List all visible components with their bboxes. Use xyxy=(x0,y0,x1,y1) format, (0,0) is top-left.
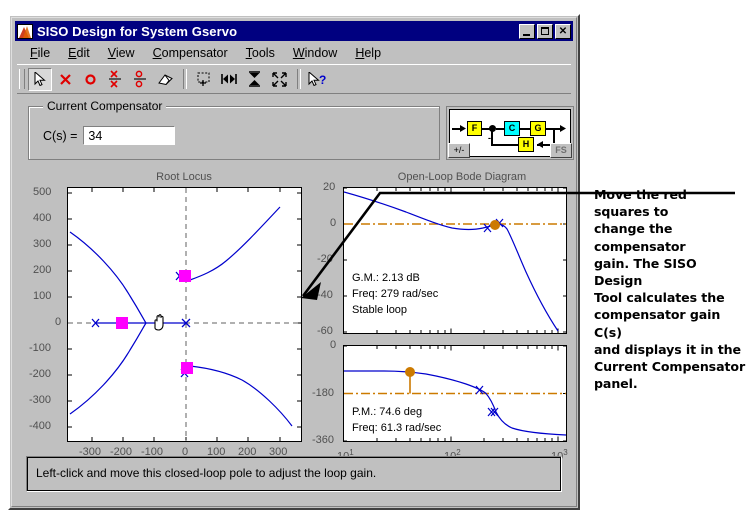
select-arrow-tool[interactable] xyxy=(28,68,52,91)
red-circle-icon xyxy=(84,73,97,86)
svg-text:?: ? xyxy=(319,73,326,87)
rl-ytick-m100: -100 xyxy=(29,342,51,354)
wire-fb-up xyxy=(491,130,493,145)
menu-label-compensator: ompensator xyxy=(162,46,228,60)
closed-loop-pole-marker-lower xyxy=(181,362,193,374)
window-title: SISO Design for System Gservo xyxy=(37,24,519,39)
fs-button[interactable]: FS xyxy=(550,143,572,158)
menu-item-view[interactable]: View xyxy=(99,44,144,62)
annotation-line-2: change the compensator xyxy=(594,220,746,254)
block-H-label: H xyxy=(523,139,530,149)
toolbar: ? xyxy=(17,64,571,94)
context-help-tool[interactable]: ? xyxy=(306,68,330,91)
callout-leader-line xyxy=(110,178,590,318)
menu-label-help: elp xyxy=(364,46,381,60)
close-button[interactable]: ✕ xyxy=(555,24,571,39)
menu-label-window: indow xyxy=(305,46,338,60)
menu-label-view: iew xyxy=(116,46,135,60)
block-G-label: G xyxy=(534,123,541,133)
delete-pole-zero-tool[interactable] xyxy=(153,68,177,91)
annotation-line-3: gain. The SISO Design xyxy=(594,255,746,289)
annotation-line-8: panel. xyxy=(594,375,746,392)
menu-bar: File Edit View Compensator Tools Window … xyxy=(15,43,573,63)
annotation-line-7: Current Compensator xyxy=(594,358,746,375)
annotation-line-4: Tool calculates the xyxy=(594,289,746,306)
phase-ytick-m180: -180 xyxy=(312,387,334,399)
block-C-label: C xyxy=(509,123,516,133)
feedback-structure-panel: F - C G xyxy=(446,106,574,160)
help-arrow-icon: ? xyxy=(308,72,328,87)
zoom-y-tool[interactable] xyxy=(242,68,266,91)
current-compensator-legend: Current Compensator xyxy=(43,99,166,113)
minimize-button[interactable] xyxy=(519,24,535,39)
red-x-icon xyxy=(59,73,72,86)
maximize-button[interactable] xyxy=(537,24,553,39)
menu-label-file: ile xyxy=(38,46,51,60)
arrow-input-icon xyxy=(460,124,467,133)
closed-loop-pole-marker-real xyxy=(116,317,128,329)
bode-phase-axes[interactable]: P.M.: 74.6 deg Freq: 61.3 rad/sec xyxy=(343,345,567,442)
rl-ytick-0: 0 xyxy=(55,316,61,328)
toolbar-separator xyxy=(183,69,187,89)
compensator-row: C(s) = xyxy=(43,126,175,145)
toolbar-separator xyxy=(297,69,301,89)
sign-toggle-button[interactable]: +/- xyxy=(448,143,470,158)
menu-item-edit[interactable]: Edit xyxy=(59,44,99,62)
annotation-line-5: compensator gain C(s) xyxy=(594,306,746,340)
menu-item-compensator[interactable]: Compensator xyxy=(144,44,237,62)
status-bar-inner: Left-click and move this closed-loop pol… xyxy=(27,457,561,491)
add-complex-zero-pair-tool[interactable] xyxy=(128,68,152,91)
phase-margin-line2: Freq: 61.3 rad/sec xyxy=(352,422,441,434)
bode-xtick-10e3-exp: 3 xyxy=(563,448,567,457)
compensator-gain-input[interactable] xyxy=(83,126,175,145)
phase-ytick-0: 0 xyxy=(330,339,336,351)
title-bar[interactable]: SISO Design for System Gservo ✕ xyxy=(15,21,573,41)
rl-ytick-300: 300 xyxy=(33,238,51,250)
cursor-arrow-icon xyxy=(34,72,47,86)
double-circle-icon xyxy=(133,70,147,88)
matlab-icon xyxy=(17,24,33,39)
add-complex-pole-pair-tool[interactable] xyxy=(103,68,127,91)
arrow-feedback-icon xyxy=(536,140,543,149)
menu-item-window[interactable]: Window xyxy=(284,44,346,62)
zoom-vertical-icon xyxy=(248,71,261,87)
menu-item-tools[interactable]: Tools xyxy=(237,44,284,62)
rl-ytick-200: 200 xyxy=(33,264,51,276)
zoom-box-tool[interactable] xyxy=(192,68,216,91)
arrow-output-icon xyxy=(560,124,567,133)
add-real-zero-tool[interactable] xyxy=(78,68,102,91)
rl-ytick-m200: -200 xyxy=(29,368,51,380)
status-message: Left-click and move this closed-loop pol… xyxy=(36,466,376,480)
compensator-cs-label: C(s) = xyxy=(43,129,77,143)
block-F[interactable]: F xyxy=(467,121,482,136)
screenshot-root: SISO Design for System Gservo ✕ File Edi… xyxy=(0,0,750,520)
zoom-box-icon xyxy=(196,72,212,87)
phase-margin-marker xyxy=(405,367,415,377)
rl-ytick-m300: -300 xyxy=(29,394,51,406)
wire-h-sum xyxy=(491,144,518,146)
annotation-line-1: Move the red squares to xyxy=(594,186,746,220)
menu-label-edit: dit xyxy=(77,46,90,60)
rl-ytick-m400: -400 xyxy=(29,420,51,432)
zoom-x-tool[interactable] xyxy=(217,68,241,91)
rl-ytick-400: 400 xyxy=(33,212,51,224)
block-G[interactable]: G xyxy=(530,121,546,136)
menu-label-tools: ools xyxy=(252,46,275,60)
toolbar-grip[interactable] xyxy=(19,69,25,89)
add-real-pole-tool[interactable] xyxy=(53,68,77,91)
annotation-text: Move the red squares to change the compe… xyxy=(594,186,746,392)
block-F-label: F xyxy=(472,123,478,133)
phase-pole-markers xyxy=(476,386,498,416)
annotation-line-6: and displays it in the xyxy=(594,341,746,358)
rl-ytick-500: 500 xyxy=(33,186,51,198)
menu-item-help[interactable]: Help xyxy=(346,44,390,62)
menu-item-file[interactable]: File xyxy=(21,44,59,62)
zoom-full-icon xyxy=(272,72,287,87)
annotation-line-5b: C(s) xyxy=(594,325,622,340)
current-compensator-panel: Current Compensator C(s) = xyxy=(28,106,440,160)
mag-ytick-m60: -60 xyxy=(317,325,333,337)
annotation-line-5a: compensator gain xyxy=(594,307,720,322)
double-x-icon xyxy=(108,70,122,88)
status-bar: Left-click and move this closed-loop pol… xyxy=(26,456,562,492)
window-controls: ✕ xyxy=(519,24,571,39)
rl-ytick-100: 100 xyxy=(33,290,51,302)
full-view-tool[interactable] xyxy=(267,68,291,91)
block-C[interactable]: C xyxy=(504,121,520,136)
block-H[interactable]: H xyxy=(518,137,534,152)
eraser-icon xyxy=(157,73,174,86)
phase-margin-line1: P.M.: 74.6 deg xyxy=(352,406,422,418)
phase-ytick-m360: -360 xyxy=(312,434,334,446)
zoom-horizontal-icon xyxy=(221,73,237,85)
